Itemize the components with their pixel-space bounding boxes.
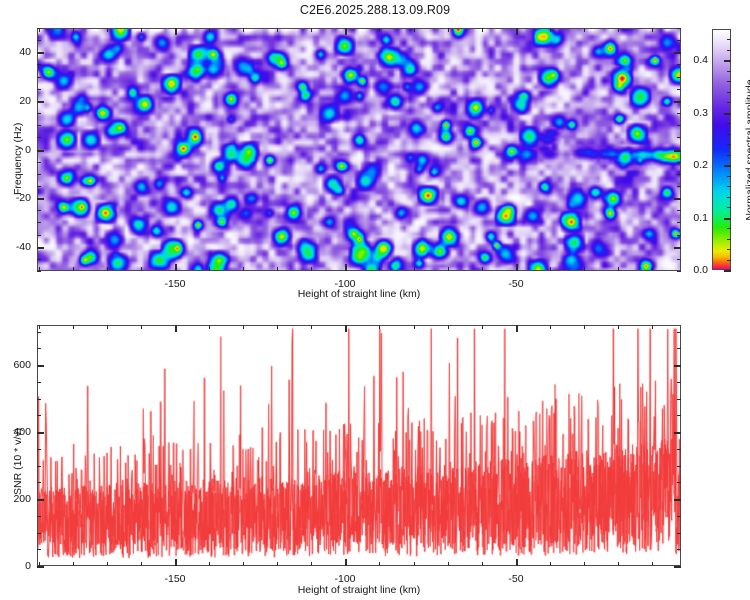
axis-tick: [652, 325, 653, 329]
axis-tick: [73, 562, 74, 566]
axis-tick: [550, 28, 551, 32]
axis-tick: [37, 150, 44, 152]
spectrogram-ytick-label: -40: [0, 241, 31, 253]
axis-tick: [277, 325, 278, 329]
axis-tick: [727, 92, 731, 93]
axis-tick: [724, 60, 731, 62]
axis-tick: [379, 267, 380, 271]
axis-tick: [107, 562, 108, 566]
colorbar-gradient: [713, 30, 730, 269]
axis-tick: [345, 264, 347, 271]
axis-tick: [724, 113, 731, 115]
axis-tick: [727, 134, 731, 135]
axis-tick: [674, 150, 681, 152]
axis-tick: [677, 125, 681, 126]
axis-tick: [674, 247, 681, 249]
snr-panel[interactable]: [37, 325, 681, 566]
axis-tick: [37, 235, 41, 236]
page-title: C2E6.2025.288.13.09.R09: [0, 3, 750, 17]
axis-tick: [618, 325, 619, 329]
axis-tick: [277, 28, 278, 32]
axis-tick: [37, 533, 41, 534]
axis-tick: [677, 533, 681, 534]
axis-tick: [141, 562, 142, 566]
axis-tick: [345, 28, 347, 35]
axis-tick: [209, 325, 210, 329]
axis-tick: [618, 562, 619, 566]
colorbar[interactable]: [712, 29, 731, 270]
axis-tick: [727, 123, 731, 124]
axis-tick: [677, 466, 681, 467]
axis-tick: [37, 210, 41, 211]
axis-tick: [727, 81, 731, 82]
axis-tick: [584, 562, 585, 566]
axis-tick: [37, 482, 41, 483]
axis-tick: [677, 235, 681, 236]
axis-tick: [175, 325, 177, 332]
axis-tick: [414, 28, 415, 32]
axis-tick: [311, 28, 312, 32]
snr-xtick-label: -150: [164, 573, 185, 585]
axis-tick: [107, 325, 108, 329]
axis-tick: [727, 197, 731, 198]
axis-tick: [37, 89, 41, 90]
axis-tick: [107, 28, 108, 32]
axis-tick: [107, 267, 108, 271]
axis-tick: [516, 28, 518, 35]
axis-tick: [37, 101, 44, 103]
axis-tick: [73, 325, 74, 329]
axis-tick: [175, 559, 177, 566]
axis-tick: [37, 28, 41, 29]
colorbar-tick-label: 0.4: [678, 54, 708, 66]
axis-tick: [652, 28, 653, 32]
axis-tick: [243, 267, 244, 271]
axis-tick: [677, 77, 681, 78]
axis-tick: [677, 449, 681, 450]
axis-tick: [727, 176, 731, 177]
snr-series: [38, 326, 680, 565]
axis-tick: [674, 432, 681, 434]
axis-tick: [482, 562, 483, 566]
axis-tick: [677, 40, 681, 41]
axis-tick: [727, 249, 731, 250]
axis-tick: [727, 239, 731, 240]
figure-canvas: C2E6.2025.288.13.09.R09 -150-100-50-40-2…: [0, 0, 750, 600]
snr-ytick-label: 0: [0, 560, 31, 572]
axis-tick: [677, 174, 681, 175]
axis-tick: [652, 562, 653, 566]
axis-tick: [448, 267, 449, 271]
axis-tick: [37, 137, 41, 138]
axis-tick: [37, 77, 41, 78]
axis-tick: [37, 516, 41, 517]
axis-tick: [37, 259, 41, 260]
axis-tick: [37, 52, 44, 54]
colorbar-tick-label: 0.1: [678, 212, 708, 224]
axis-tick: [243, 562, 244, 566]
axis-tick: [482, 325, 483, 329]
axis-tick: [37, 499, 44, 501]
axis-tick: [311, 562, 312, 566]
axis-tick: [37, 549, 41, 550]
colorbar-tick-label: 0.3: [678, 107, 708, 119]
axis-tick: [618, 28, 619, 32]
colorbar-tick-label: 0.2: [678, 159, 708, 171]
axis-tick: [677, 137, 681, 138]
axis-tick: [724, 270, 731, 272]
axis-tick: [39, 325, 40, 329]
spectrogram-panel[interactable]: [37, 28, 681, 271]
axis-tick: [677, 348, 681, 349]
axis-tick: [141, 28, 142, 32]
axis-tick: [311, 325, 312, 329]
axis-tick: [652, 267, 653, 271]
colorbar-tick-label: 0.0: [678, 264, 708, 276]
axis-tick: [448, 28, 449, 32]
axis-tick: [37, 247, 44, 249]
snr-ytick-label: 600: [0, 359, 31, 371]
axis-tick: [414, 562, 415, 566]
axis-tick: [414, 325, 415, 329]
axis-tick: [674, 101, 681, 103]
axis-tick: [677, 89, 681, 90]
axis-tick: [37, 64, 41, 65]
axis-tick: [141, 267, 142, 271]
axis-tick: [243, 28, 244, 32]
axis-tick: [379, 28, 380, 32]
axis-tick: [727, 260, 731, 261]
axis-tick: [677, 549, 681, 550]
axis-tick: [37, 162, 41, 163]
axis-tick: [37, 415, 41, 416]
axis-tick: [727, 155, 731, 156]
axis-tick: [516, 325, 518, 332]
axis-tick: [209, 562, 210, 566]
axis-tick: [727, 228, 731, 229]
axis-tick: [550, 267, 551, 271]
axis-tick: [37, 198, 44, 200]
axis-tick: [37, 125, 41, 126]
axis-tick: [277, 562, 278, 566]
axis-tick: [73, 28, 74, 32]
axis-tick: [209, 28, 210, 32]
axis-tick: [73, 267, 74, 271]
axis-tick: [37, 40, 41, 41]
axis-tick: [584, 28, 585, 32]
axis-tick: [516, 264, 518, 271]
axis-tick: [37, 174, 41, 175]
axis-tick: [727, 39, 731, 40]
axis-tick: [727, 50, 731, 51]
axis-tick: [175, 28, 177, 35]
spectrogram-x-axis-title: Height of straight line (km): [298, 288, 421, 300]
axis-tick: [677, 28, 681, 29]
axis-tick: [674, 499, 681, 501]
axis-tick: [677, 516, 681, 517]
axis-tick: [37, 348, 41, 349]
axis-tick: [727, 144, 731, 145]
axis-tick: [727, 102, 731, 103]
axis-tick: [448, 325, 449, 329]
axis-tick: [345, 325, 347, 332]
axis-tick: [674, 365, 681, 367]
axis-tick: [727, 186, 731, 187]
spectrogram-y-axis-title: Frequency (Hz): [12, 123, 24, 195]
axis-tick: [724, 165, 731, 167]
axis-tick: [141, 325, 142, 329]
snr-xtick-label: -50: [508, 573, 523, 585]
axis-tick: [674, 198, 681, 200]
axis-tick: [516, 559, 518, 566]
axis-tick: [677, 482, 681, 483]
axis-tick: [677, 382, 681, 383]
axis-tick: [37, 449, 41, 450]
axis-tick: [677, 259, 681, 260]
spectrogram-xtick-label: -150: [164, 278, 185, 290]
axis-tick: [37, 332, 41, 333]
axis-tick: [677, 186, 681, 187]
axis-tick: [674, 566, 681, 568]
axis-tick: [482, 267, 483, 271]
axis-tick: [175, 264, 177, 271]
axis-tick: [677, 210, 681, 211]
axis-tick: [37, 432, 44, 434]
snr-y-axis-title: SNR (10 * v/v): [12, 428, 24, 495]
axis-tick: [482, 28, 483, 32]
colorbar-title: Normalized spectral amplitude: [744, 79, 750, 220]
axis-tick: [37, 365, 44, 367]
spectrogram-image: [38, 29, 680, 270]
axis-tick: [209, 267, 210, 271]
axis-tick: [724, 218, 731, 220]
axis-tick: [618, 267, 619, 271]
axis-tick: [584, 267, 585, 271]
axis-tick: [37, 382, 41, 383]
axis-tick: [584, 325, 585, 329]
axis-tick: [448, 562, 449, 566]
axis-tick: [677, 332, 681, 333]
axis-tick: [37, 113, 41, 114]
axis-tick: [277, 267, 278, 271]
snr-x-axis-title: Height of straight line (km): [298, 584, 421, 596]
axis-tick: [37, 466, 41, 467]
axis-tick: [37, 566, 44, 568]
axis-tick: [727, 207, 731, 208]
axis-tick: [677, 415, 681, 416]
axis-tick: [550, 325, 551, 329]
axis-tick: [243, 325, 244, 329]
axis-tick: [345, 559, 347, 566]
axis-tick: [37, 186, 41, 187]
spectrogram-ytick-label: 40: [0, 46, 31, 58]
axis-tick: [379, 325, 380, 329]
axis-tick: [37, 399, 41, 400]
axis-tick: [677, 399, 681, 400]
axis-tick: [414, 267, 415, 271]
spectrogram-ytick-label: 20: [0, 95, 31, 107]
axis-tick: [37, 222, 41, 223]
spectrogram-xtick-label: -50: [508, 278, 523, 290]
axis-tick: [379, 562, 380, 566]
axis-tick: [727, 71, 731, 72]
axis-tick: [550, 562, 551, 566]
axis-tick: [37, 271, 41, 272]
axis-tick: [311, 267, 312, 271]
